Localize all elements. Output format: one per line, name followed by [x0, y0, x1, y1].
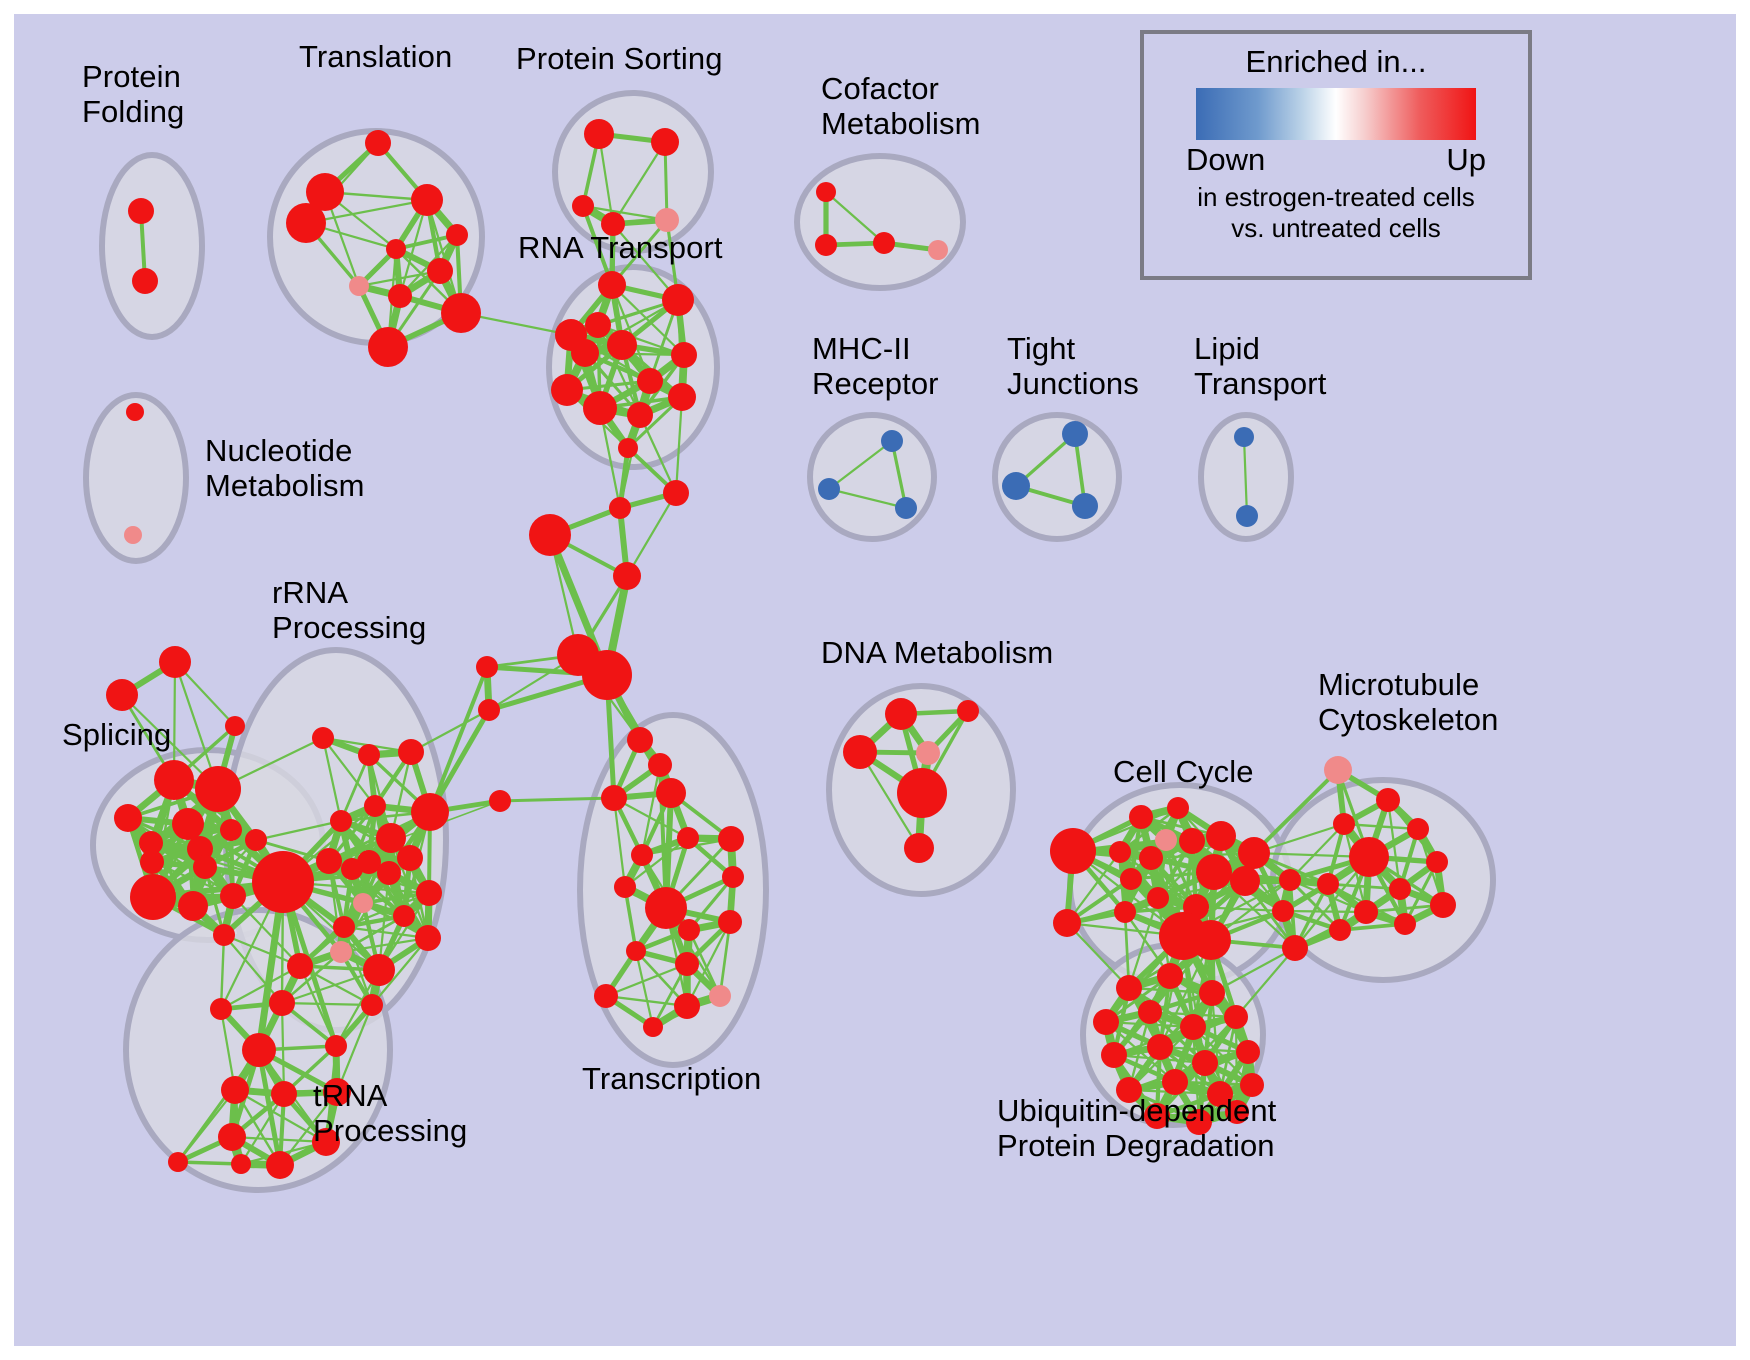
- network-node: [1272, 900, 1294, 922]
- network-node: [677, 827, 699, 849]
- network-node: [1147, 1034, 1173, 1060]
- network-node: [873, 232, 895, 254]
- network-node: [895, 497, 917, 519]
- edge: [430, 667, 487, 812]
- legend-down-label: Down: [1186, 142, 1265, 178]
- network-node: [132, 268, 158, 294]
- network-node: [386, 239, 406, 259]
- network-node: [582, 650, 632, 700]
- network-node: [1109, 841, 1131, 863]
- network-node: [1282, 935, 1308, 961]
- network-node: [1167, 797, 1189, 819]
- network-node: [172, 808, 204, 840]
- network-node: [1234, 427, 1254, 447]
- label-nucleotide-metabolism: Nucleotide Metabolism: [205, 434, 365, 503]
- network-node: [671, 342, 697, 368]
- legend-caption-line2: vs. untreated cells: [1168, 213, 1504, 244]
- network-node: [312, 727, 334, 749]
- network-node: [341, 858, 363, 880]
- network-node: [1317, 873, 1339, 895]
- network-node: [218, 1123, 246, 1151]
- label-transcription: Transcription: [582, 1062, 761, 1097]
- network-node: [140, 850, 164, 874]
- label-translation: Translation: [299, 40, 452, 75]
- network-node: [1407, 818, 1429, 840]
- network-node: [269, 990, 295, 1016]
- network-node: [330, 941, 352, 963]
- label-trna-processing: tRNA Processing: [313, 1079, 467, 1148]
- network-node: [415, 925, 441, 951]
- network-node: [1129, 805, 1153, 829]
- network-node: [231, 1154, 251, 1174]
- network-node: [815, 234, 837, 256]
- network-node: [643, 1017, 663, 1037]
- network-node: [631, 844, 653, 866]
- network-node: [1394, 913, 1416, 935]
- network-node: [441, 293, 481, 333]
- network-node: [365, 130, 391, 156]
- label-rrna-processing: rRNA Processing: [272, 576, 426, 645]
- network-node: [266, 1151, 294, 1179]
- network-node: [361, 994, 383, 1016]
- network-node: [124, 526, 142, 544]
- label-tight-junctions: Tight Junctions: [1007, 332, 1139, 401]
- network-node: [668, 383, 696, 411]
- network-node: [583, 391, 617, 425]
- network-node: [1180, 1014, 1206, 1040]
- network-node: [722, 866, 744, 888]
- network-node: [245, 829, 267, 851]
- network-node: [1196, 854, 1232, 890]
- network-node: [1050, 828, 1096, 874]
- network-node: [818, 478, 840, 500]
- legend-title: Enriched in...: [1168, 44, 1504, 80]
- legend-color-gradient: [1196, 88, 1476, 140]
- network-node: [1279, 869, 1301, 891]
- network-node: [881, 430, 903, 452]
- network-node: [648, 753, 672, 777]
- network-node: [325, 1035, 347, 1057]
- network-node: [601, 785, 627, 811]
- network-node: [916, 741, 940, 765]
- network-node: [225, 716, 245, 736]
- network-node: [678, 919, 700, 941]
- network-node: [330, 810, 352, 832]
- network-node: [213, 924, 235, 946]
- network-node: [1224, 1005, 1248, 1029]
- label-mhc-ii-receptor: MHC-II Receptor: [812, 332, 939, 401]
- label-dna-metabolism: DNA Metabolism: [821, 636, 1053, 671]
- network-node: [154, 760, 194, 800]
- network-node: [1116, 975, 1142, 1001]
- network-node: [584, 119, 614, 149]
- network-node: [885, 698, 917, 730]
- network-node: [598, 271, 626, 299]
- network-node: [128, 198, 154, 224]
- network-node: [1053, 909, 1081, 937]
- network-node: [1349, 837, 1389, 877]
- network-node: [709, 985, 731, 1007]
- label-splicing: Splicing: [62, 718, 171, 753]
- network-node: [816, 182, 836, 202]
- network-node: [1162, 1069, 1188, 1095]
- cluster-mhc-ii-receptor: [810, 415, 934, 539]
- network-node: [1155, 829, 1177, 851]
- network-node: [571, 339, 599, 367]
- network-node: [220, 819, 242, 841]
- network-node: [957, 700, 979, 722]
- network-node: [178, 891, 208, 921]
- network-node: [271, 1081, 297, 1107]
- network-node: [1138, 1000, 1162, 1024]
- network-node: [585, 312, 611, 338]
- network-node: [159, 646, 191, 678]
- label-protein-sorting: Protein Sorting: [516, 42, 723, 77]
- network-node: [928, 240, 948, 260]
- network-node: [416, 880, 442, 906]
- network-node: [1157, 963, 1183, 989]
- label-lipid-transport: Lipid Transport: [1194, 332, 1326, 401]
- network-node: [1002, 472, 1030, 500]
- network-node: [393, 905, 415, 927]
- network-node: [529, 514, 571, 556]
- network-node: [1236, 1040, 1260, 1064]
- legend-up-label: Up: [1446, 142, 1486, 178]
- network-node: [1238, 837, 1270, 869]
- network-node: [106, 679, 138, 711]
- network-node: [675, 952, 699, 976]
- network-node: [1230, 866, 1260, 896]
- network-node: [718, 826, 744, 852]
- network-node: [316, 848, 342, 874]
- network-node: [388, 284, 412, 308]
- network-node: [626, 941, 646, 961]
- label-cofactor-metabolism: Cofactor Metabolism: [821, 72, 981, 141]
- cluster-protein-folding: [102, 155, 202, 337]
- network-node: [195, 766, 241, 812]
- network-node: [1192, 1050, 1218, 1076]
- network-node: [1101, 1042, 1127, 1068]
- network-node: [1206, 821, 1236, 851]
- legend-box: Enriched in... Down Up in estrogen-treat…: [1140, 30, 1532, 280]
- network-node: [1072, 493, 1098, 519]
- network-node: [1333, 813, 1355, 835]
- network-node: [656, 778, 686, 808]
- network-node: [897, 768, 947, 818]
- network-node: [1191, 920, 1231, 960]
- label-microtubule-cytoskeleton: Microtubule Cytoskeleton: [1318, 668, 1498, 737]
- network-node: [411, 793, 449, 831]
- network-node: [287, 953, 313, 979]
- label-ubiquitin-protein-degradation: Ubiquitin-dependent Protein Degradation: [997, 1094, 1276, 1163]
- network-node: [594, 984, 618, 1008]
- legend-caption-line1: in estrogen-treated cells: [1168, 182, 1504, 213]
- network-node: [358, 744, 380, 766]
- network-node: [398, 739, 424, 765]
- network-node: [1354, 900, 1378, 924]
- network-node: [1093, 1009, 1119, 1035]
- network-node: [1324, 756, 1352, 784]
- network-node: [489, 790, 511, 812]
- network-node: [609, 497, 631, 519]
- network-node: [607, 330, 637, 360]
- network-node: [368, 327, 408, 367]
- network-node: [363, 954, 395, 986]
- network-node: [1236, 505, 1258, 527]
- network-node: [551, 374, 583, 406]
- network-node: [397, 845, 423, 871]
- network-node: [904, 833, 934, 863]
- network-node: [114, 804, 142, 832]
- network-node: [476, 656, 498, 678]
- network-node: [286, 203, 326, 243]
- network-node: [252, 851, 314, 913]
- network-node: [126, 403, 144, 421]
- network-node: [1389, 878, 1411, 900]
- network-node: [1147, 887, 1169, 909]
- label-cell-cycle: Cell Cycle: [1113, 755, 1254, 790]
- network-node: [627, 727, 653, 753]
- network-node: [446, 224, 468, 246]
- network-node: [1120, 868, 1142, 890]
- network-node: [613, 562, 641, 590]
- network-node: [364, 795, 386, 817]
- cluster-cofactor-metabolism: [797, 156, 963, 288]
- label-rna-transport: RNA Transport: [518, 231, 723, 266]
- network-node: [1329, 919, 1351, 941]
- network-node: [572, 195, 594, 217]
- network-node: [1376, 788, 1400, 812]
- network-node: [627, 402, 653, 428]
- network-node: [843, 735, 877, 769]
- network-node: [1199, 980, 1225, 1006]
- network-node: [1179, 828, 1205, 854]
- network-node: [411, 184, 443, 216]
- network-node: [333, 916, 355, 938]
- network-node: [1114, 901, 1136, 923]
- figure-canvas: Protein FoldingTranslationProtein Sortin…: [0, 0, 1750, 1360]
- network-node: [349, 276, 369, 296]
- label-protein-folding: Protein Folding: [82, 60, 184, 129]
- network-node: [662, 284, 694, 316]
- network-node: [663, 480, 689, 506]
- network-node: [674, 993, 700, 1019]
- cluster-protein-sorting: [555, 93, 711, 251]
- network-node: [168, 1152, 188, 1172]
- network-node: [614, 876, 636, 898]
- network-node: [1139, 846, 1163, 870]
- network-node: [1426, 851, 1448, 873]
- network-node: [718, 910, 742, 934]
- network-node: [645, 887, 687, 929]
- network-node: [478, 699, 500, 721]
- network-node: [637, 368, 663, 394]
- network-node: [210, 998, 232, 1020]
- network-node: [220, 883, 246, 909]
- network-node: [1062, 421, 1088, 447]
- network-node: [427, 258, 453, 284]
- network-node: [221, 1076, 249, 1104]
- network-node: [655, 208, 679, 232]
- network-node: [193, 855, 217, 879]
- network-node: [618, 438, 638, 458]
- network-node: [130, 874, 176, 920]
- network-node: [353, 893, 373, 913]
- network-node: [377, 861, 401, 885]
- network-node: [242, 1033, 276, 1067]
- network-node: [651, 128, 679, 156]
- network-node: [1430, 892, 1456, 918]
